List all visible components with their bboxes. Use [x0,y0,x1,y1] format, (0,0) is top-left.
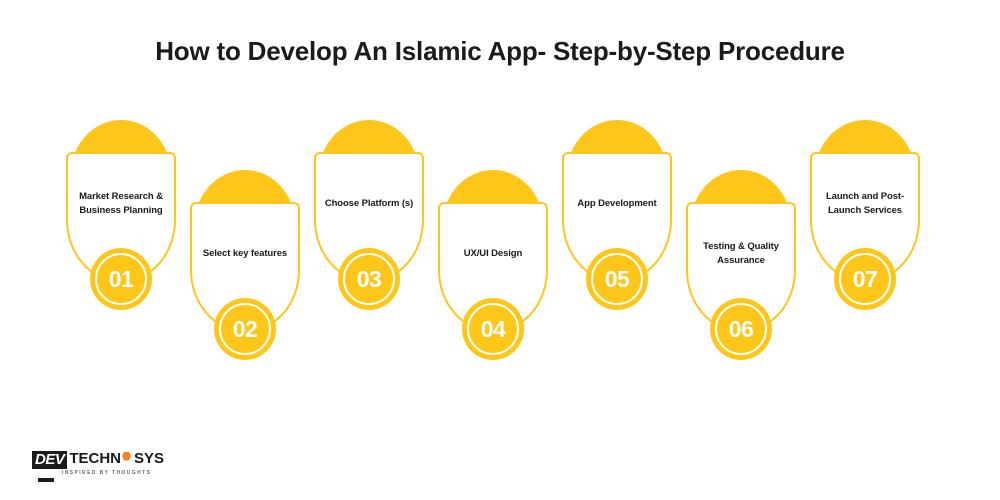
logo-sys-text: SYS [132,451,164,470]
step-number: 06 [729,318,754,341]
step-number-badge: 07 [834,248,896,310]
step-label: App Development [562,152,672,256]
logo-techno-text: TECHN [67,451,121,470]
step-number: 01 [109,268,134,291]
step-label: Testing & Quality Assurance [686,202,796,306]
step-label: Launch and Post-Launch Services [810,152,920,256]
logo-dev-mark: DEV [32,451,67,470]
step-number-badge: 06 [710,298,772,360]
step-number: 03 [357,268,382,291]
step-number: 02 [233,318,258,341]
steps-container: Market Research & Business Planning 01 S… [0,120,1000,390]
step-label: Choose Platform (s) [314,152,424,256]
logo-wordmark: DEV TECHN SYS [32,451,164,470]
infographic-page: How to Develop An Islamic App- Step-by-S… [0,0,1000,500]
step-label: Select key features [190,202,300,306]
step-number: 05 [605,268,630,291]
step-number-badge: 02 [214,298,276,360]
step-label: Market Research & Business Planning [66,152,176,256]
hexagon-icon [122,452,131,461]
step-number-badge: 05 [586,248,648,310]
step-number-badge: 01 [90,248,152,310]
logo-tagline: INSPIRED BY THOUGHTS [32,470,151,476]
step-number-badge: 04 [462,298,524,360]
step-label: UX/UI Design [438,202,548,306]
page-title: How to Develop An Islamic App- Step-by-S… [0,36,1000,67]
step-number: 04 [481,318,506,341]
step-number-badge: 03 [338,248,400,310]
brand-logo[interactable]: DEV TECHN SYS INSPIRED BY THOUGHTS [32,451,164,483]
logo-stand-icon [38,478,54,482]
step-number: 07 [853,268,878,291]
